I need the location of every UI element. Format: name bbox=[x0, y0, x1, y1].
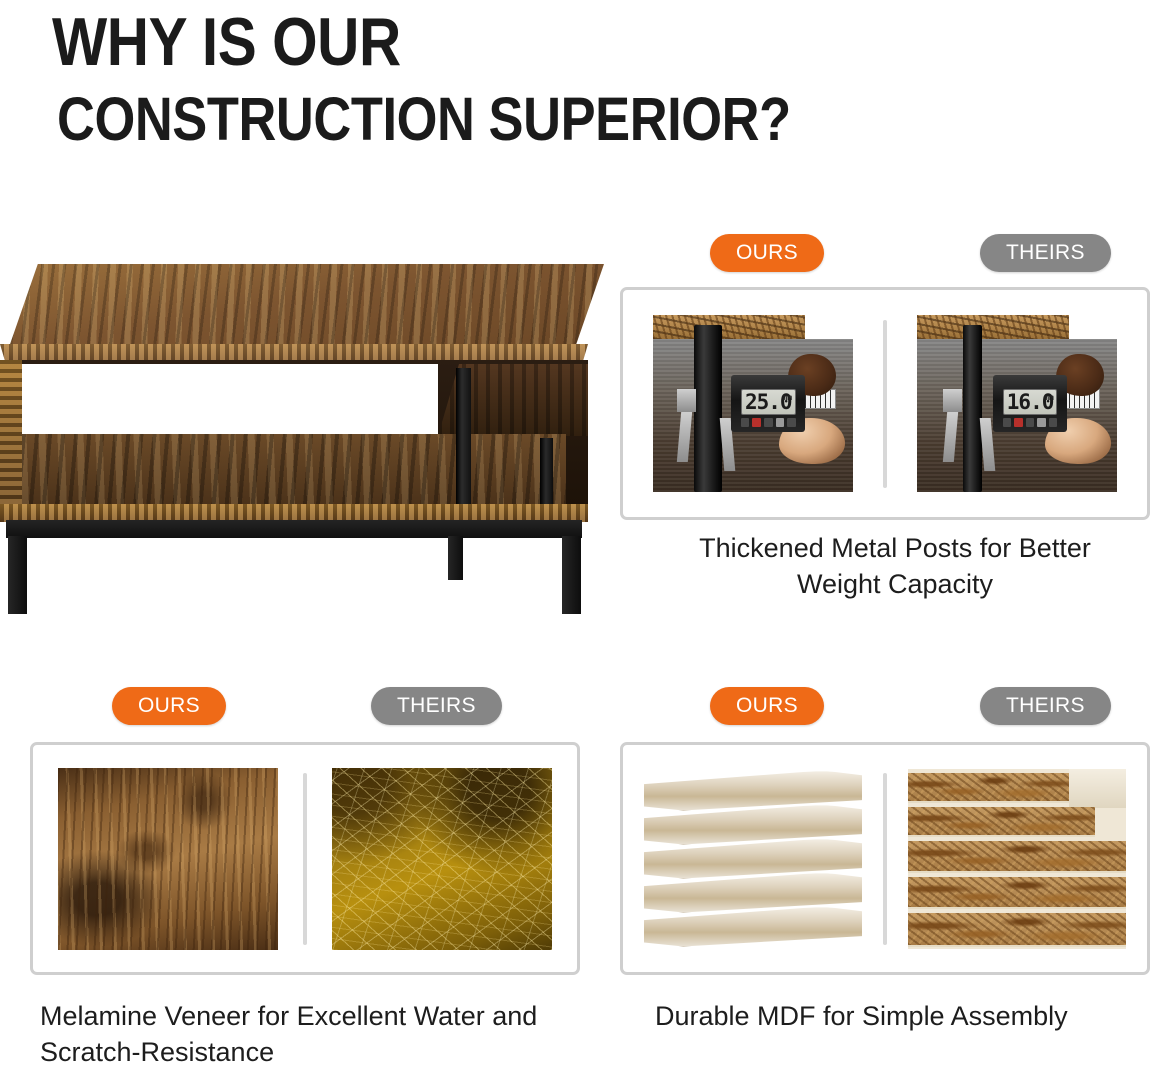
photo-cell-ours-metal-posts: 25.0 mm bbox=[623, 290, 883, 517]
table-top-surface bbox=[8, 264, 604, 350]
badge-row-metal-posts: OURS THEIRS bbox=[620, 234, 1150, 274]
product-image-coffee-table bbox=[0, 248, 612, 578]
table-leg-rear bbox=[448, 536, 463, 580]
table-lower-shelf bbox=[22, 434, 566, 508]
badge-ours-metal-posts: OURS bbox=[710, 234, 824, 272]
swatch-melamine-veneer-ours bbox=[58, 768, 278, 950]
caliper-photo-ours: 25.0 mm bbox=[644, 315, 862, 493]
caption-board-material: Durable MDF for Simple Assembly bbox=[655, 998, 1155, 1034]
table-leg-right bbox=[562, 536, 581, 614]
badge-row-board-material: OURS THEIRS bbox=[620, 687, 1150, 727]
badge-ours-board-material: OURS bbox=[710, 687, 824, 725]
photo-cell-ours-surface-finish bbox=[33, 745, 303, 972]
table-leg-left bbox=[8, 536, 27, 614]
caliper-jaw-upper-theirs bbox=[943, 389, 963, 412]
caliper-body-theirs: 16.0 mm bbox=[993, 375, 1067, 432]
caption-surface-finish: Melamine Veneer for Excellent Water and … bbox=[40, 998, 600, 1070]
particleboard-edge-theirs bbox=[917, 315, 1070, 340]
table-left-side-panel bbox=[0, 360, 22, 510]
caliper-unit-ours: mm bbox=[782, 393, 792, 402]
badge-row-surface-finish: OURS THEIRS bbox=[30, 687, 580, 727]
headline-line-1: WHY IS OUR bbox=[52, 2, 964, 82]
comparison-panel-board-material bbox=[620, 742, 1150, 975]
photo-cell-ours-board-material bbox=[623, 745, 883, 972]
table-open-gap bbox=[22, 364, 438, 436]
table-metal-post bbox=[456, 368, 471, 508]
caliper-photo-theirs: 16.0 mm bbox=[908, 315, 1126, 493]
badge-ours-surface-finish: OURS bbox=[112, 687, 226, 725]
headline-line-2: CONSTRUCTION SUPERIOR? bbox=[57, 82, 964, 156]
caliper-jaw-upper-ours bbox=[677, 389, 697, 412]
photo-cell-theirs-surface-finish bbox=[307, 745, 577, 972]
badge-theirs-metal-posts: THEIRS bbox=[980, 234, 1111, 272]
comparison-panel-surface-finish bbox=[30, 742, 580, 975]
badge-theirs-surface-finish: THEIRS bbox=[371, 687, 502, 725]
caliper-buttons-theirs bbox=[1003, 418, 1058, 427]
caliper-display-theirs: 16.0 mm bbox=[1003, 389, 1058, 415]
table-metal-post-secondary bbox=[540, 438, 553, 508]
caliper-body-ours: 25.0 mm bbox=[731, 375, 805, 432]
image-mdf-board-stack-ours bbox=[644, 769, 862, 949]
caliper-display-ours: 25.0 mm bbox=[741, 389, 796, 415]
caliper-unit-theirs: mm bbox=[1044, 393, 1054, 402]
particleboard-edge-ours bbox=[653, 315, 806, 340]
swatch-scratched-surface-theirs bbox=[332, 768, 552, 950]
page-title: WHY IS OUR CONSTRUCTION SUPERIOR? bbox=[52, 2, 1112, 156]
table-metal-base-rail bbox=[6, 520, 582, 538]
photo-cell-theirs-board-material bbox=[887, 745, 1147, 972]
photo-cell-theirs-metal-posts: 16.0 mm bbox=[887, 290, 1147, 517]
caption-metal-posts: Thickened Metal Posts for Better Weight … bbox=[660, 530, 1130, 602]
caliper-buttons-ours bbox=[741, 418, 796, 427]
comparison-panel-metal-posts: 25.0 mm bbox=[620, 287, 1150, 520]
metal-post-ours bbox=[694, 325, 722, 492]
badge-theirs-board-material: THEIRS bbox=[980, 687, 1111, 725]
image-particleboard-layers-theirs bbox=[908, 769, 1126, 949]
metal-post-theirs bbox=[963, 325, 983, 492]
